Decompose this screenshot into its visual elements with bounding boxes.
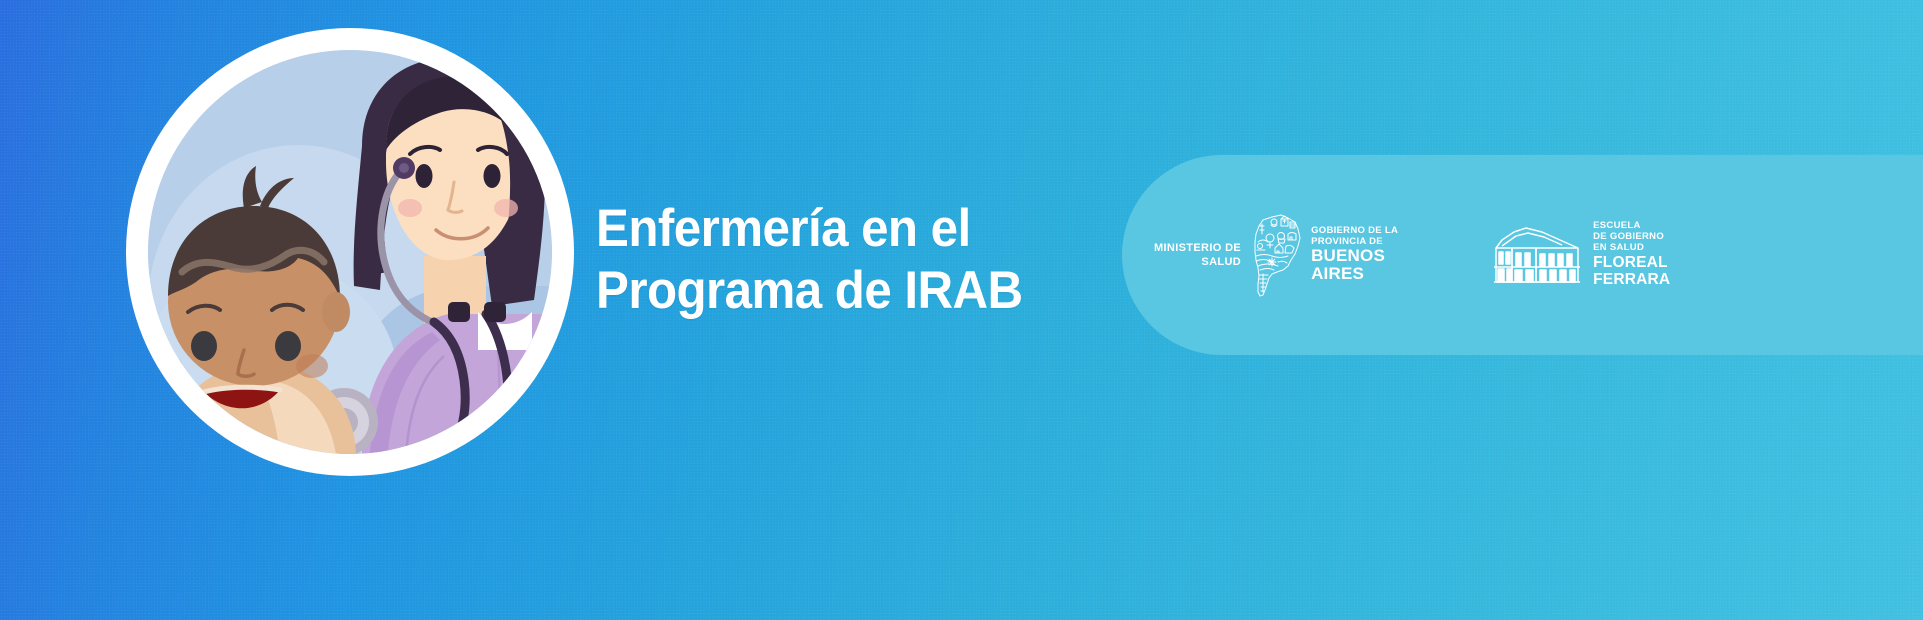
page-title: Enfermería en el Programa de IRAB	[596, 198, 1055, 322]
gobierno-pba-label: GOBIERNO DE LA PROVINCIA DE BUENOS AIRES	[1311, 226, 1398, 283]
logo-panel: MINISTERIO DE SALUD	[1122, 155, 1923, 355]
school-building-icon	[1492, 224, 1582, 286]
logo-ministerio-salud: MINISTERIO DE SALUD	[1154, 212, 1398, 298]
escuela-line-3: EN SALUD	[1593, 243, 1670, 254]
title-line-2: Programa de IRAB	[596, 260, 1023, 322]
escuela-line-4: FLOREAL	[1593, 254, 1670, 272]
escuela-line-5: FERRARA	[1593, 271, 1670, 289]
nurse-baby-illustration-svg	[148, 50, 552, 454]
illustration-image	[148, 50, 552, 454]
ministerio-salud-label: MINISTERIO DE SALUD	[1154, 241, 1241, 269]
logo-escuela-floreal-ferrara: ESCUELA DE GOBIERNO EN SALUD FLOREAL FER…	[1492, 221, 1670, 289]
logo-row: MINISTERIO DE SALUD	[1154, 212, 1670, 298]
escuela-label: ESCUELA DE GOBIERNO EN SALUD FLOREAL FER…	[1593, 221, 1670, 289]
course-banner: Enfermería en el Programa de IRAB MINIST…	[0, 0, 1923, 620]
pba-line-3: BUENOS	[1311, 247, 1398, 265]
nurse-baby-illustration-circle	[126, 28, 574, 476]
pba-line-4: AIRES	[1311, 265, 1398, 283]
title-line-1: Enfermería en el	[596, 198, 1023, 260]
buenos-aires-province-map-icon	[1250, 212, 1302, 298]
